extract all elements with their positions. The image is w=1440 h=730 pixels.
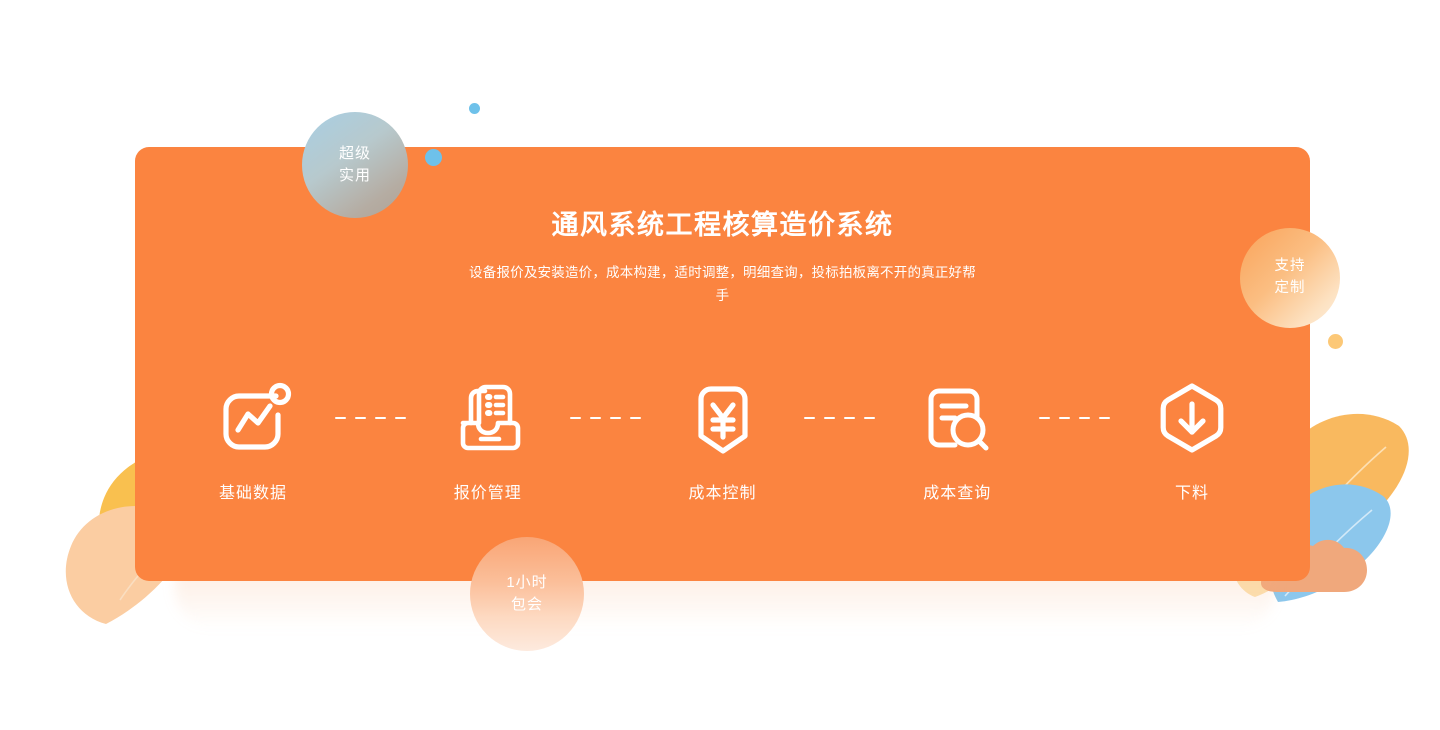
blue-dot-small (469, 103, 480, 114)
connector-dashes (787, 366, 894, 470)
headline-block: 通风系统工程核算造价系统 设备报价及安装造价，成本构建，适时调整，明细查询，投标… (135, 209, 1310, 308)
feature-row: 基础数据 (135, 366, 1310, 503)
dash (804, 417, 815, 420)
badge-line-2: 包会 (511, 594, 543, 617)
blue-dot-large (425, 149, 442, 166)
badge-line-2: 定制 (1275, 278, 1306, 300)
page-subtitle: 设备报价及安装造价，成本构建，适时调整，明细查询，投标拍板离不开的真正好帮手 (463, 261, 983, 308)
hexagon-download-icon (1149, 366, 1235, 470)
feature-label: 基础数据 (219, 479, 287, 503)
badge-line-1: 支持 (1275, 256, 1306, 278)
dash (375, 417, 386, 420)
badge-support-custom: 支持 定制 (1240, 228, 1340, 328)
feature-label: 成本控制 (688, 479, 756, 503)
connector-dashes (1021, 366, 1128, 470)
dash (590, 417, 601, 420)
badge-line-1: 超级 (339, 143, 371, 166)
promo-card: 通风系统工程核算造价系统 设备报价及安装造价，成本构建，适时调整，明细查询，投标… (135, 147, 1310, 581)
dash (864, 417, 875, 420)
dash (1059, 417, 1070, 420)
yuan-banner-icon (680, 366, 766, 470)
chart-square-icon (210, 366, 296, 470)
amber-dot (1328, 334, 1343, 349)
dash (335, 417, 346, 420)
feature-item-quotation[interactable]: 报价管理 (424, 366, 552, 503)
feature-item-cost-query[interactable]: 成本查询 (893, 366, 1021, 503)
feature-item-cutting[interactable]: 下料 (1128, 366, 1256, 503)
dash (1079, 417, 1090, 420)
feature-item-basic-data[interactable]: 基础数据 (189, 366, 317, 503)
dash (570, 417, 581, 420)
badge-one-hour: 1小时 包会 (470, 537, 584, 651)
dash (844, 417, 855, 420)
badge-line-2: 实用 (339, 165, 371, 188)
dash (610, 417, 621, 420)
connector-dashes (552, 366, 659, 470)
feature-item-cost-control[interactable]: 成本控制 (659, 366, 787, 503)
dash (630, 417, 641, 420)
page-root: 通风系统工程核算造价系统 设备报价及安装造价，成本构建，适时调整，明细查询，投标… (0, 0, 1440, 730)
dash (824, 417, 835, 420)
connector-dashes (317, 366, 424, 470)
page-title: 通风系统工程核算造价系统 (135, 209, 1310, 243)
badge-super-practical: 超级 实用 (302, 112, 408, 218)
document-search-icon (914, 366, 1000, 470)
feature-label: 成本查询 (923, 479, 991, 503)
feature-label: 报价管理 (454, 479, 522, 503)
badge-line-1: 1小时 (506, 572, 547, 595)
document-tray-icon (445, 366, 531, 470)
dash (1039, 417, 1050, 420)
dash (395, 417, 406, 420)
dash (355, 417, 366, 420)
feature-label: 下料 (1175, 479, 1209, 503)
dash (1099, 417, 1110, 420)
